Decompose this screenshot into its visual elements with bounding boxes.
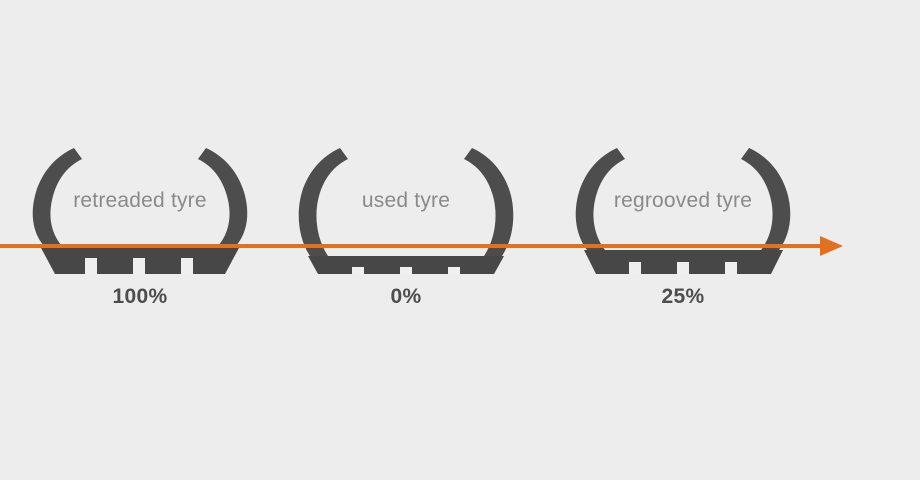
- tyre-sidewall-left: [299, 148, 348, 256]
- tyre-label-retreaded: retreaded tyre: [73, 189, 207, 212]
- tyre-groove: [448, 267, 460, 275]
- tyre-sidewall-right: [464, 148, 513, 256]
- tyre-groove: [85, 258, 97, 275]
- diagram-canvas: retreaded tyre 100% used tyre 0% regroov…: [0, 0, 920, 480]
- tyre-label-used: used tyre: [362, 189, 450, 212]
- tyre-group-regrooved: regrooved tyre 25%: [576, 148, 791, 308]
- tyre-group-used: used tyre 0%: [299, 148, 514, 308]
- tyre-groove: [725, 262, 737, 275]
- tyre-groove: [352, 267, 364, 275]
- tyre-groove: [400, 267, 412, 275]
- tyre-percent-regrooved: 25%: [662, 285, 705, 308]
- tyre-groove: [677, 262, 689, 275]
- tyre-groove: [181, 258, 193, 275]
- tyre-groove: [133, 258, 145, 275]
- tyre-label-regrooved: regrooved tyre: [614, 189, 752, 212]
- tyre-percent-retreaded: 100%: [113, 285, 168, 308]
- tyre-percent-used: 0%: [391, 285, 422, 308]
- tyre-wear-diagram: retreaded tyre 100% used tyre 0% regroov…: [0, 0, 920, 480]
- tyre-group-retreaded: retreaded tyre 100%: [33, 148, 248, 308]
- tyre-groove: [629, 262, 641, 275]
- wear-axis-arrowhead: [820, 236, 843, 256]
